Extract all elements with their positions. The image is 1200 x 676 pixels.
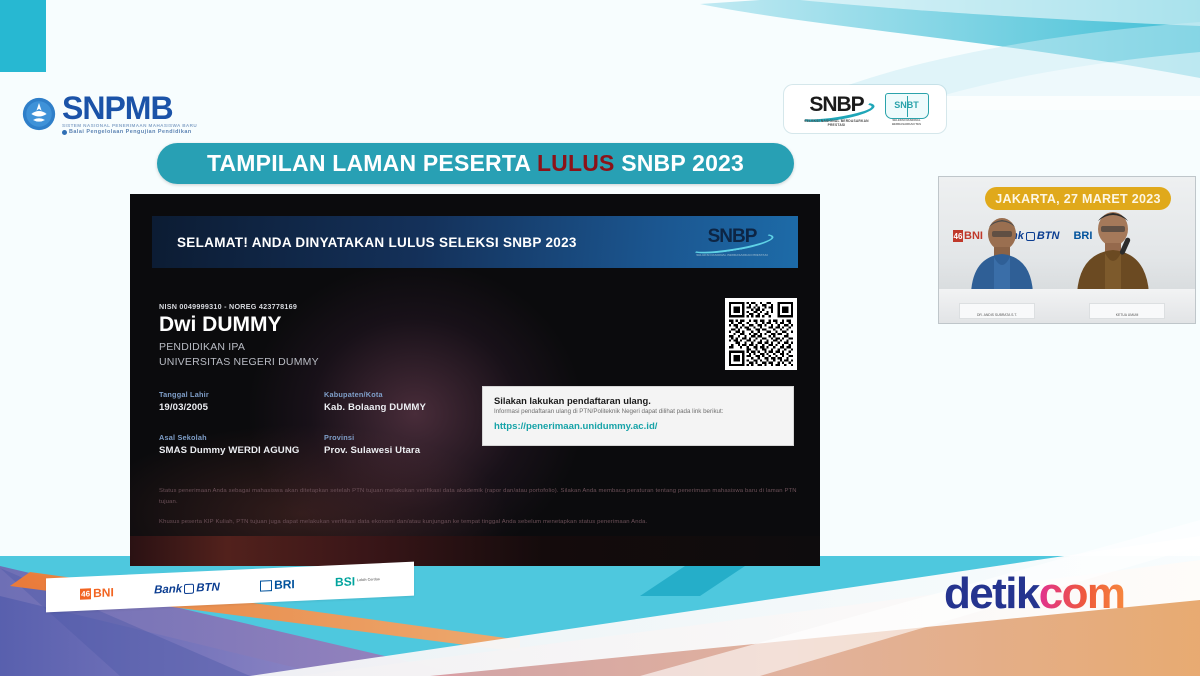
study-program: PENDIDIKAN IPA	[159, 340, 319, 355]
snbt-caption: SELEKSI NASIONAL BERDASARKAN TES	[883, 118, 931, 126]
reregistration-link[interactable]: https://penerimaan.unidummy.ac.id/	[494, 421, 782, 432]
detik-wordmark-part-1: detik	[944, 569, 1039, 618]
slide-title-banner: TAMPILAN LAMAN PESERTA LULUS SNBP 2023	[157, 143, 794, 184]
bni-mark-icon: 46	[80, 588, 91, 599]
congratulations-header: SELAMAT! ANDA DINYATAKAN LULUS SELEKSI S…	[152, 216, 798, 268]
snpmb-wordmark: SNPMB	[62, 93, 197, 123]
disclaimer-paragraph-2: Khusus peserta KIP Kuliah, PTN tujuan ju…	[159, 517, 799, 528]
reregistration-callout: Silakan lakukan pendaftaran ulang. Infor…	[482, 386, 794, 446]
speaker-right	[1067, 211, 1159, 293]
field-row: Asal Sekolah SMAS Dummy WERDI AGUNG Prov…	[159, 433, 489, 456]
bri-label: BRI	[274, 577, 295, 592]
field-label: Asal Sekolah	[159, 433, 324, 442]
title-highlight: LULUS	[537, 150, 615, 176]
field-value: Prov. Sulawesi Utara	[324, 445, 489, 456]
bri-mark-icon	[260, 580, 272, 592]
snpmb-subtitle-2: Balai Pengelolaan Pengujian Pendidikan	[62, 129, 197, 135]
field-row: Tanggal Lahir 19/03/2005 Kabupaten/Kota …	[159, 390, 489, 413]
callout-title: Silakan lakukan pendaftaran ulang.	[494, 395, 782, 406]
date-banner: JAKARTA, 27 MARET 2023	[985, 187, 1171, 210]
snbp-snbt-logo-pill: SNBP SELEKSI NASIONAL BERDASARKAN PRESTA…	[784, 85, 946, 133]
speaker-left	[961, 217, 1043, 293]
field-tanggal-lahir: Tanggal Lahir 19/03/2005	[159, 390, 324, 413]
bullet-icon	[62, 130, 67, 135]
snbt-wordmark: SNBT	[883, 100, 931, 110]
field-value: Kab. Bolaang DUMMY	[324, 402, 489, 413]
btn-logo: Bank BTN	[154, 581, 220, 596]
snbp-caption: SELEKSI NASIONAL BERDASARKAN PRESTASI	[800, 119, 874, 127]
bsi-tagline: Lebih Cerdas	[357, 578, 380, 583]
bsi-logo: BSI Lebih Cerdas	[335, 573, 380, 589]
nameplate-right: KETUA UMUM	[1089, 303, 1165, 319]
field-value: SMAS Dummy WERDI AGUNG	[159, 445, 324, 456]
callout-subtitle: Informasi pendaftaran ulang di PTN/Polit…	[494, 408, 782, 415]
field-value: 19/03/2005	[159, 402, 324, 413]
university-name: UNIVERSITAS NEGERI DUMMY	[159, 355, 319, 370]
result-page-screenshot: SELAMAT! ANDA DINYATAKAN LULUS SELEKSI S…	[130, 194, 820, 566]
nameplate-left: DR. ANDIS SUBRATA S.T.	[959, 303, 1035, 319]
tut-wuri-handayani-seal-icon	[22, 97, 56, 131]
snpmb-subtitle-2-text: Balai Pengelolaan Pengujian Pendidikan	[69, 129, 192, 135]
title-part-1: TAMPILAN LAMAN PESERTA	[207, 150, 537, 176]
detik-wordmark-part-2: com	[1039, 569, 1125, 618]
congratulations-text: SELAMAT! ANDA DINYATAKAN LULUS SELEKSI S…	[177, 235, 577, 250]
student-name: Dwi DUMMY	[159, 314, 319, 336]
student-detail-fields: Tanggal Lahir 19/03/2005 Kabupaten/Kota …	[159, 390, 489, 476]
field-label: Provinsi	[324, 433, 489, 442]
disclaimer-paragraph-1: Status penerimaan Anda sebagai mahasiswa…	[159, 486, 799, 508]
snbp-logo: SNBP SELEKSI NASIONAL BERDASARKAN PRESTA…	[800, 92, 874, 126]
bri-logo: BRI	[260, 577, 295, 593]
detikcom-watermark: detikcom	[944, 572, 1124, 616]
field-asal-sekolah: Asal Sekolah SMAS Dummy WERDI AGUNG	[159, 433, 324, 456]
date-banner-text: JAKARTA, 27 MARET 2023	[995, 192, 1160, 206]
bni-label: BNI	[93, 585, 114, 600]
snbt-logo: SNBT SELEKSI NASIONAL BERDASARKAN TES	[883, 92, 931, 126]
field-label: Tanggal Lahir	[159, 390, 324, 399]
press-conference-inset: JAKARTA, 27 MARET 2023 46 BNI Bank BTN B…	[938, 176, 1196, 324]
student-identity: NISN 0049999310 - NOREG 423778169 Dwi DU…	[159, 302, 319, 370]
bni-logo: 46 BNI	[80, 585, 114, 601]
field-provinsi: Provinsi Prov. Sulawesi Utara	[324, 433, 489, 456]
field-label: Kabupaten/Kota	[324, 390, 489, 399]
btn-label: BTN	[196, 581, 220, 594]
btn-prefix: Bank	[154, 583, 182, 596]
qr-code-container	[725, 298, 797, 370]
title-part-2: SNBP 2023	[615, 150, 744, 176]
disclaimer-block: Status penerimaan Anda sebagai mahasiswa…	[159, 486, 799, 537]
page-title: TAMPILAN LAMAN PESERTA LULUS SNBP 2023	[207, 150, 744, 177]
decorative-bottom-band	[130, 536, 820, 566]
snbp-header-logo: SNBP SELEKSI NASIONAL BERDASARKAN PRESTA…	[688, 225, 776, 259]
house-icon	[184, 584, 194, 594]
field-kabupaten-kota: Kabupaten/Kota Kab. Bolaang DUMMY	[324, 390, 489, 413]
snbp-header-caption: SELEKSI NASIONAL BERDASARKAN PRESTASI	[688, 253, 776, 257]
qr-code-icon	[729, 302, 793, 366]
bsi-label: BSI	[335, 574, 355, 589]
nisn-noreg-line: NISN 0049999310 - NOREG 423778169	[159, 302, 319, 311]
slide-stage: SNPMB SISTEM NASIONAL PENERIMAAN MAHASIS…	[0, 0, 1200, 676]
snpmb-logo: SNPMB SISTEM NASIONAL PENERIMAAN MAHASIS…	[22, 93, 197, 135]
